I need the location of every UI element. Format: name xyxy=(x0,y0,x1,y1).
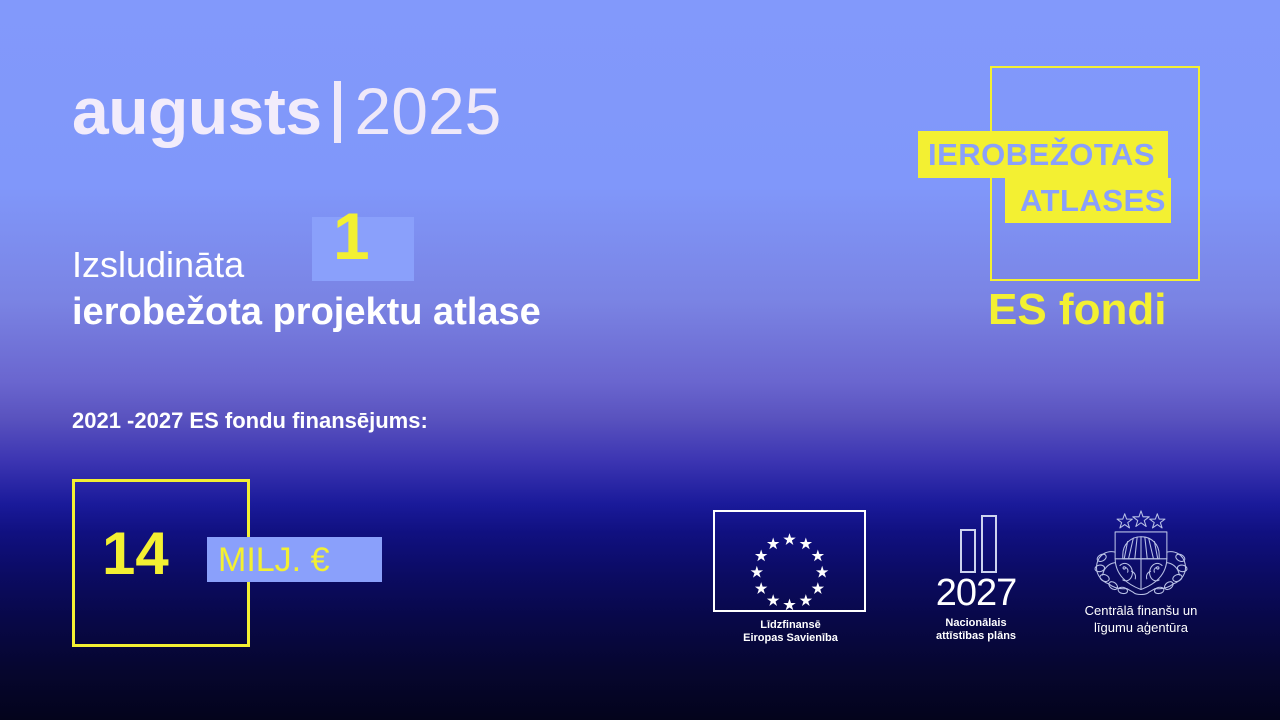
cfla-caption-line-1: Centrālā finanšu un xyxy=(1055,602,1227,619)
selection-count: 1 xyxy=(333,203,370,269)
poster-canvas: augusts2025 Izsludināta 1 ierobežota pro… xyxy=(0,0,1280,720)
nap-bar-right xyxy=(981,515,997,573)
badge-line-1: IEROBEŽOTAS xyxy=(928,131,1155,178)
funding-amount-unit: MILJ. € xyxy=(218,538,329,582)
cfla-caption-line-2: līgumu aģentūra xyxy=(1055,619,1227,636)
eu-caption-line-1: Līdzfinansē xyxy=(713,619,868,632)
eu-logo-caption: Līdzfinansē Eiropas Savienība xyxy=(713,619,868,645)
eu-logo: Līdzfinansē Eiropas Savienība xyxy=(713,510,868,645)
nap-bar-left xyxy=(960,529,976,573)
nap-logo-caption: Nacionālais attīstības plāns xyxy=(915,617,1037,643)
eu-stars-icon xyxy=(715,512,864,610)
badge-caption: ES fondi xyxy=(988,288,1166,332)
page-title: augusts2025 xyxy=(72,78,501,144)
cfla-logo: Centrālā finanšu un līgumu aģentūra xyxy=(1055,508,1227,636)
eu-flag-icon xyxy=(713,510,866,612)
nap-caption-line-2: attīstības plāns xyxy=(915,630,1037,643)
logo-strip: Līdzfinansē Eiropas Savienība 2027 Nacio… xyxy=(700,505,1240,655)
funding-label: 2021 -2027 ES fondu finansējums: xyxy=(72,408,428,434)
nap-year: 2027 xyxy=(915,573,1037,613)
title-year: 2025 xyxy=(355,74,502,148)
nap-caption-line-1: Nacionālais xyxy=(915,617,1037,630)
badge-line-2: ATLASES xyxy=(1020,178,1166,223)
eu-caption-line-2: Eiropas Savienība xyxy=(713,632,868,645)
title-month: augusts xyxy=(72,74,322,148)
lead-line-1: Izsludināta xyxy=(72,247,244,283)
nap-bars-icon xyxy=(915,505,1037,573)
funding-amount-value: 14 xyxy=(102,524,169,584)
cfla-logo-caption: Centrālā finanšu un līgumu aģentūra xyxy=(1055,602,1227,636)
latvia-coat-of-arms-icon xyxy=(1055,508,1227,600)
title-separator-bar xyxy=(334,81,341,143)
lead-line-2: ierobežota projektu atlase xyxy=(72,293,541,331)
lead-statement: Izsludināta xyxy=(72,247,244,283)
nap-logo: 2027 Nacionālais attīstības plāns xyxy=(915,505,1037,643)
